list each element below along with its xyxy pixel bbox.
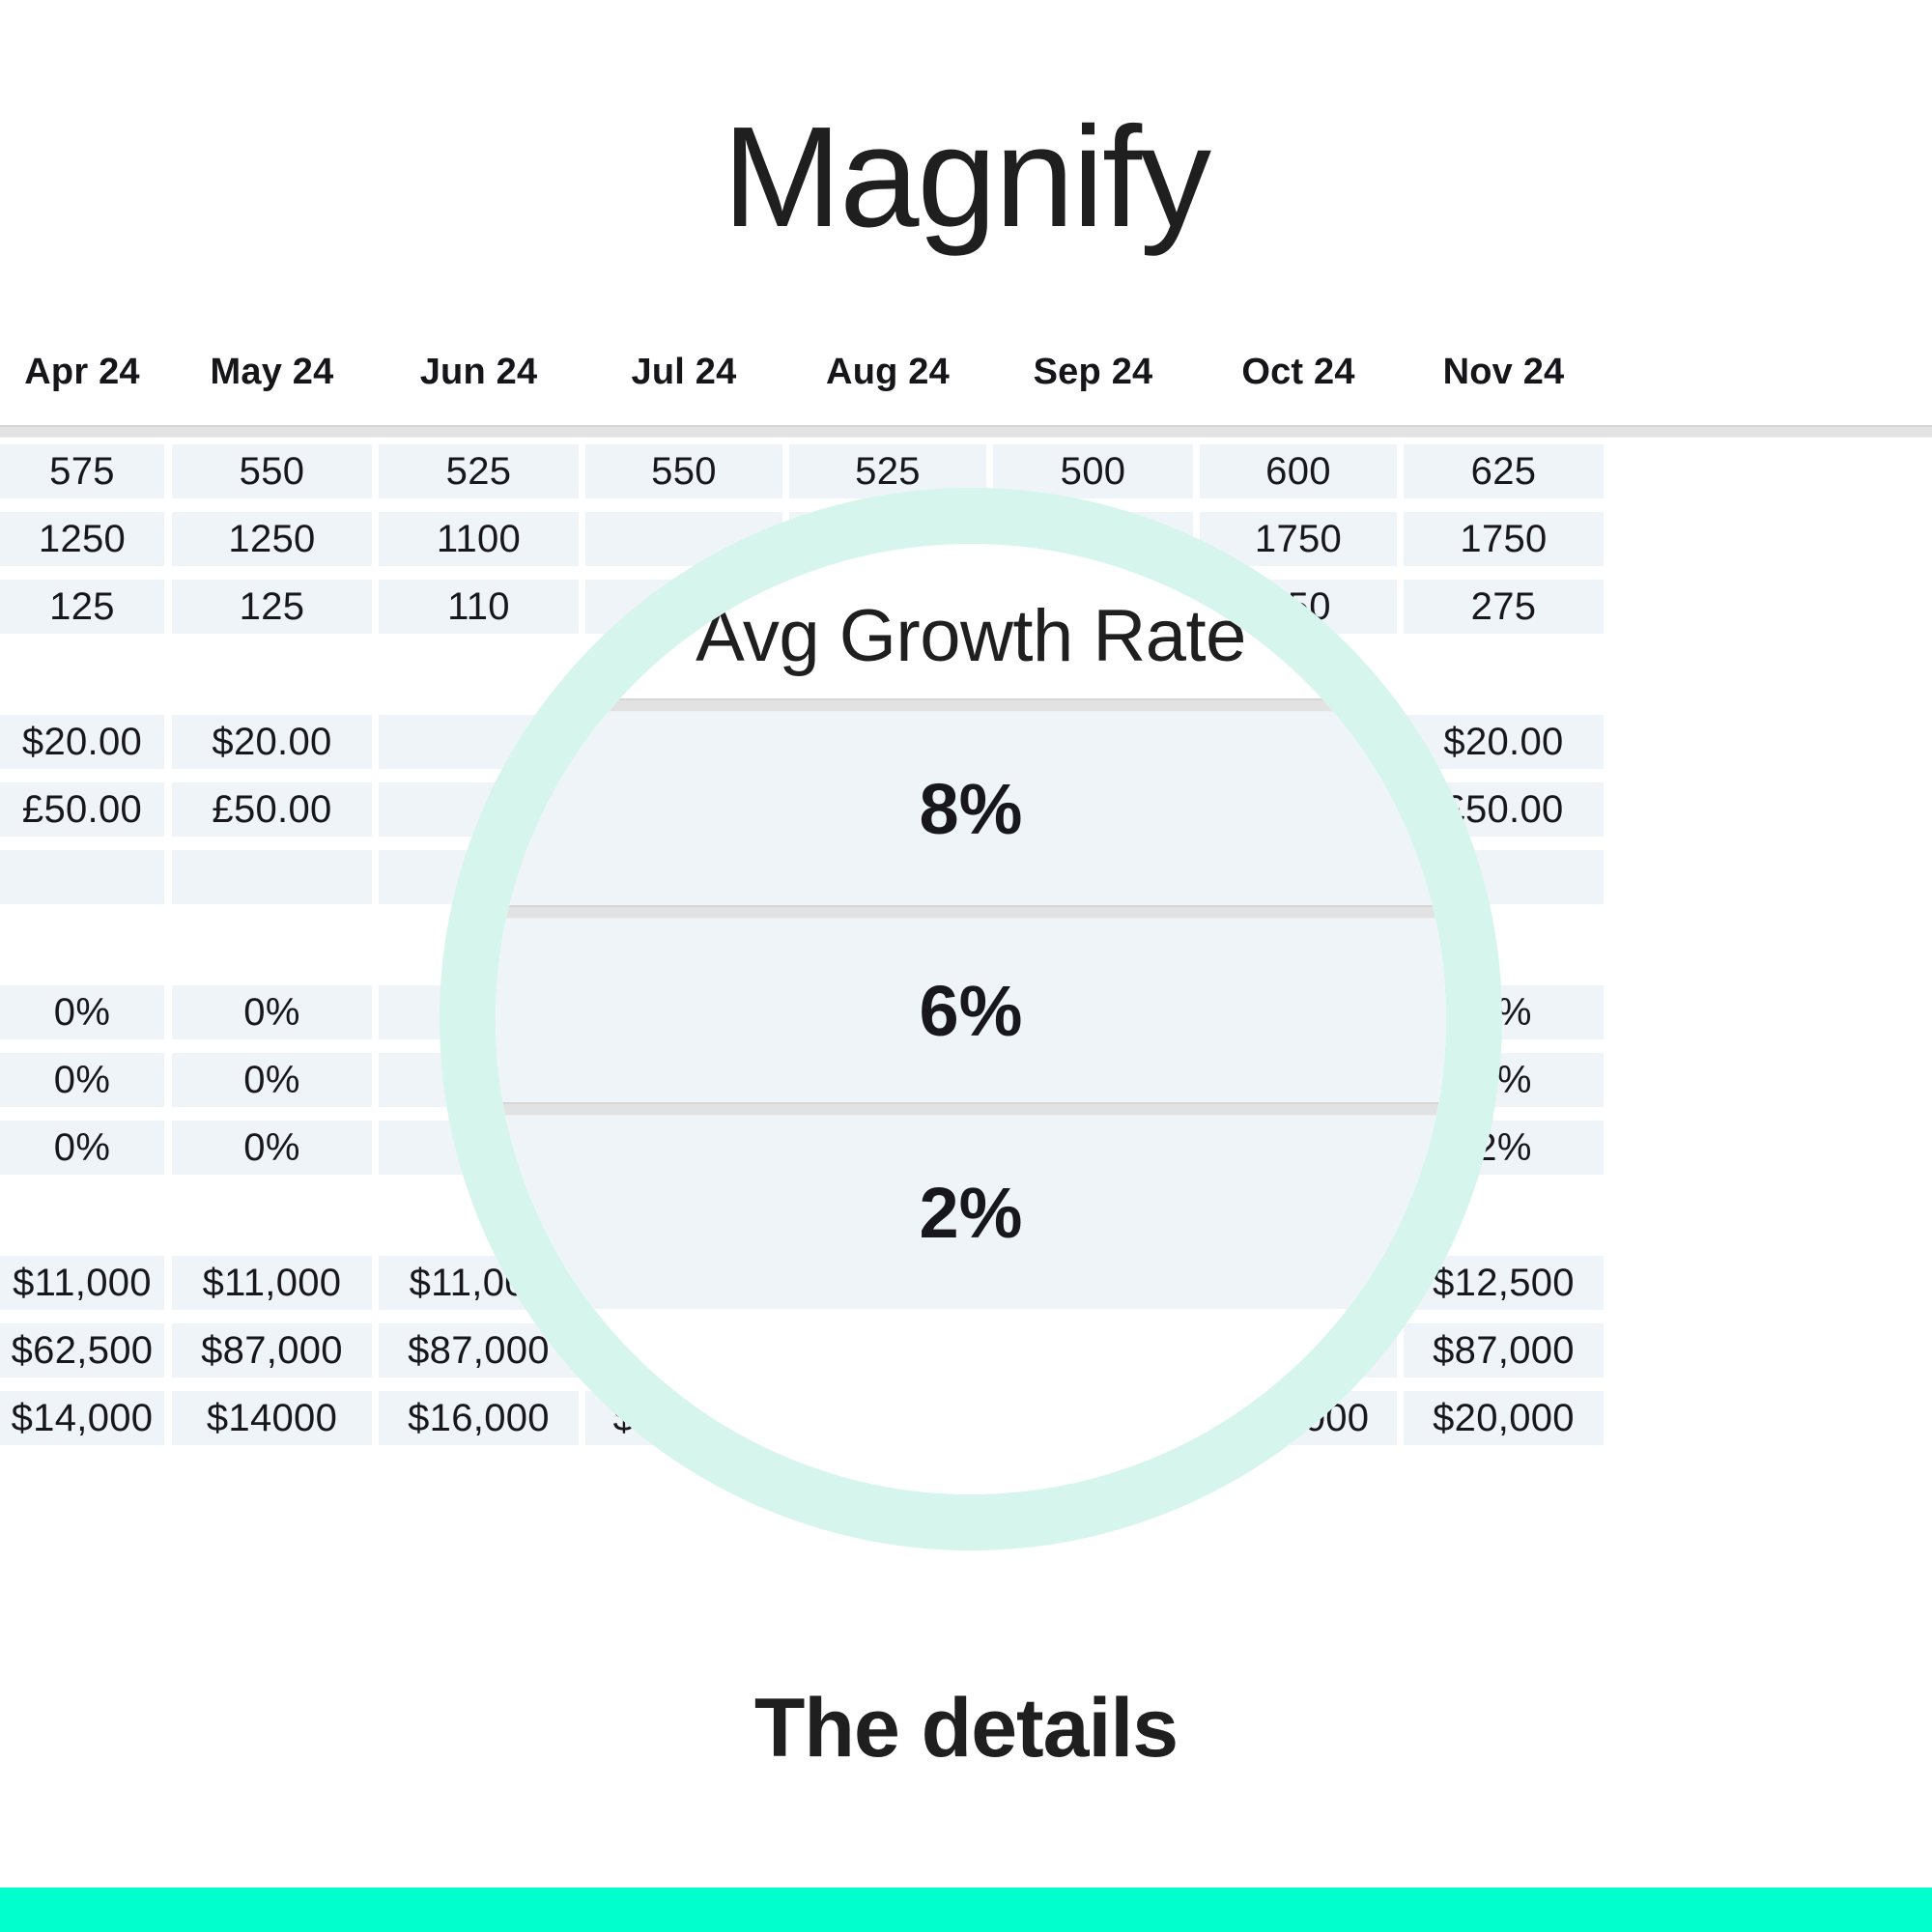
table-cell[interactable]: 575 <box>0 444 164 498</box>
table-cell[interactable]: $62,500 <box>0 1323 164 1378</box>
table-cell[interactable]: 625 <box>1404 444 1604 498</box>
table-cell[interactable]: 1100 <box>379 512 579 566</box>
column-header-may24: May 24 <box>172 319 372 425</box>
table-cell[interactable]: 0% <box>172 1121 372 1175</box>
magnifier-title: Avg Growth Rate <box>496 594 1446 678</box>
table-cell[interactable]: $87,000 <box>172 1323 372 1378</box>
column-header-jun24: Jun 24 <box>379 319 579 425</box>
table-cell[interactable]: $11,000 <box>0 1256 164 1310</box>
accent-bar <box>0 1888 1932 1932</box>
header-divider <box>0 425 1932 438</box>
table-cell[interactable]: $16,000 <box>379 1391 579 1445</box>
table-cell[interactable]: 600 <box>1200 444 1397 498</box>
table-cell[interactable]: 550 <box>172 444 372 498</box>
table-cell[interactable]: $20.00 <box>172 715 372 769</box>
column-header-apr24: Apr 24 <box>0 319 164 425</box>
column-header-nov24: Nov 24 <box>1404 319 1604 425</box>
table-cell[interactable]: $11,000 <box>172 1256 372 1310</box>
magnifier-lens: Avg Growth Rate 8% 6% 2% <box>440 488 1502 1550</box>
table-cell[interactable]: 1250 <box>172 512 372 566</box>
table-cell[interactable]: 550 <box>585 444 782 498</box>
table-cell[interactable]: $14,000 <box>0 1391 164 1445</box>
table-cell[interactable]: 525 <box>379 444 579 498</box>
magnifier-divider-3 <box>496 1102 1446 1116</box>
table-cell[interactable]: 0% <box>0 1121 164 1175</box>
table-cell[interactable] <box>172 850 372 904</box>
magnifier-content: Avg Growth Rate 8% 6% 2% <box>496 544 1446 1494</box>
table-cell[interactable]: $14000 <box>172 1391 372 1445</box>
column-header-oct24: Oct 24 <box>1200 319 1397 425</box>
table-cell[interactable]: £50.00 <box>0 782 164 837</box>
table-cell[interactable]: 0% <box>0 985 164 1039</box>
magnifier-value-1: 8% <box>496 712 1446 905</box>
magnifier-value-2: 6% <box>496 919 1446 1102</box>
page-title: Magnify <box>0 106 1932 249</box>
table-cell[interactable]: £50.00 <box>172 782 372 837</box>
table-cell[interactable]: $87,000 <box>1404 1323 1604 1378</box>
table-cell[interactable]: $20,000 <box>1404 1391 1604 1445</box>
magnifier-divider-2 <box>496 905 1446 919</box>
table-cell[interactable]: 0% <box>172 985 372 1039</box>
table-cell[interactable]: 125 <box>172 580 372 634</box>
table-cell[interactable]: 1750 <box>1404 512 1604 566</box>
table-cell[interactable] <box>0 850 164 904</box>
spreadsheet-header-row: Apr 24 May 24 Jun 24 Jul 24 Aug 24 Sep 2… <box>0 319 1932 425</box>
table-cell[interactable]: 0% <box>0 1053 164 1107</box>
table-cell[interactable]: 0% <box>172 1053 372 1107</box>
column-header-aug24: Aug 24 <box>789 319 986 425</box>
table-cell[interactable]: 125 <box>0 580 164 634</box>
magnifier-value-3: 2% <box>496 1116 1446 1309</box>
magnifier-divider-1 <box>496 698 1446 712</box>
footer-caption: The details <box>0 1683 1932 1775</box>
column-header-sep24: Sep 24 <box>993 319 1193 425</box>
table-cell[interactable]: 1250 <box>0 512 164 566</box>
column-header-jul24: Jul 24 <box>585 319 782 425</box>
table-cell[interactable]: $20.00 <box>0 715 164 769</box>
